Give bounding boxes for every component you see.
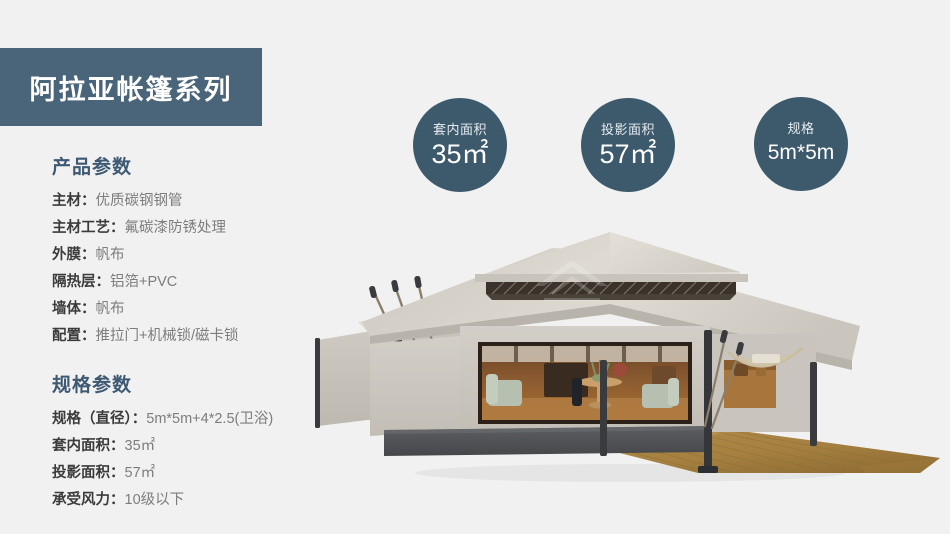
stat-badge-dimensions: 规格 5m*5m <box>754 97 848 191</box>
stat-badge-label: 套内面积 <box>433 122 487 138</box>
canopy-post-left <box>315 338 320 428</box>
stat-badge-value: 57㎡ <box>599 139 656 169</box>
spec-value: 5m*5m+4*2.5(卫浴) <box>146 411 273 427</box>
stat-badge-interior-area: 套内面积 35㎡ <box>413 98 507 192</box>
spec-key: 主材： <box>52 193 96 209</box>
stat-badge-value: 5m*5m <box>768 138 835 168</box>
spec-key: 主材工艺： <box>52 220 125 236</box>
clerestory-base <box>486 294 736 300</box>
spec-value: 帆布 <box>96 247 125 263</box>
tent-illustration <box>300 230 950 505</box>
spec-key: 套内面积： <box>52 438 125 454</box>
spec-value: 推拉门+机械锁/磁卡锁 <box>96 328 239 344</box>
spec-value: 35㎡ <box>125 438 156 454</box>
right-interior-box <box>734 364 748 376</box>
spec-value: 57㎡ <box>125 465 156 481</box>
spec-key: 承受风力： <box>52 492 125 508</box>
post-mid <box>600 360 607 456</box>
stat-badge-value: 35㎡ <box>431 139 488 169</box>
upper-roof-right-shade <box>610 232 740 274</box>
spec-value: 氟碳漆防锈处理 <box>125 220 227 236</box>
interior-wall-art <box>613 363 627 377</box>
spec-value: 铝箔+PVC <box>110 274 177 290</box>
series-title-banner: 阿拉亚帐篷系列 <box>0 48 262 126</box>
spec-key: 隔热层： <box>52 274 110 290</box>
stat-badge-projected-area: 投影面积 57㎡ <box>581 98 675 192</box>
product-params-heading: 产品参数 <box>52 152 352 179</box>
spec-value: 帆布 <box>96 301 125 317</box>
spec-row: 主材：优质碳钢钢管 <box>52 188 352 215</box>
spec-key: 规格（直径）： <box>52 411 146 427</box>
front-wall-left <box>370 336 460 436</box>
spec-value: 10级以下 <box>125 492 185 508</box>
stat-badge-group: 套内面积 35㎡ 投影面积 57㎡ 规格 5m*5m <box>413 97 853 193</box>
series-title-text: 阿拉亚帐篷系列 <box>30 68 233 107</box>
spec-value: 优质碳钢钢管 <box>96 193 183 209</box>
spec-key: 配置： <box>52 328 96 344</box>
interior-floor-lamp <box>572 378 582 406</box>
upper-roof-eave <box>475 274 748 282</box>
upper-roof-left-shade <box>485 232 610 274</box>
stat-badge-label: 投影面积 <box>601 122 655 138</box>
rope-anchors <box>369 276 422 299</box>
stat-badge-label: 规格 <box>787 121 814 137</box>
spec-key: 墙体： <box>52 301 96 317</box>
slide-canvas: 阿拉亚帐篷系列 产品参数 主材：优质碳钢钢管 主材工艺：氟碳漆防锈处理 外膜：帆… <box>0 0 950 534</box>
spec-key: 外膜： <box>52 247 96 263</box>
post-right <box>810 362 817 446</box>
interior-upper-band <box>482 346 688 362</box>
spec-key: 投影面积： <box>52 465 125 481</box>
hammock-cushion <box>752 354 780 363</box>
post-center-foot <box>698 466 718 473</box>
